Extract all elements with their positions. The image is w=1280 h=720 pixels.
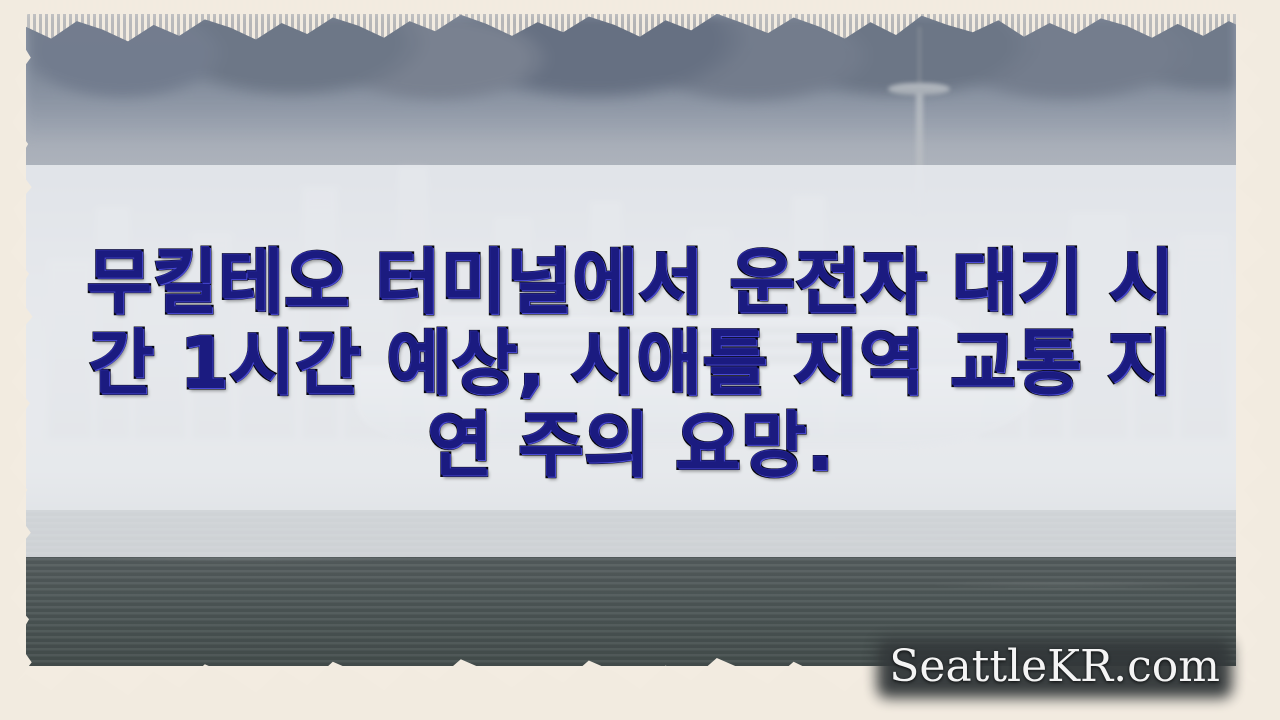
headline-line-1: 무킬테오 터미널에서 운전자 대기 시 <box>87 243 1175 323</box>
news-banner-image: 무킬테오 터미널에서 운전자 대기 시 간 1시간 예상, 시애틀 지역 교통 … <box>0 0 1280 720</box>
site-watermark[interactable]: SeattleKR.com <box>877 640 1232 698</box>
headline-line-2: 간 1시간 예상, 시애틀 지역 교통 지 <box>89 324 1173 404</box>
headline-line-3: 연 주의 요망. <box>427 406 834 486</box>
space-needle-spire <box>918 27 921 85</box>
headline-text: 무킬테오 터미널에서 운전자 대기 시 간 1시간 예상, 시애틀 지역 교통 … <box>26 180 1236 548</box>
watermark-label: SeattleKR.com <box>889 644 1220 690</box>
